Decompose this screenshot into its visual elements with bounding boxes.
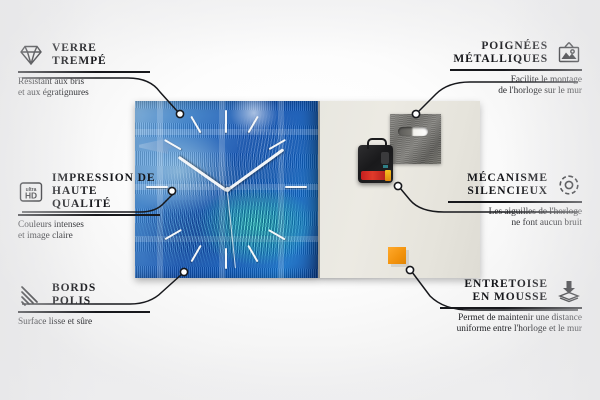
- callout-title-2: SILENCIEUX: [467, 185, 548, 198]
- callout-desc: Permet de maintenir une distance: [440, 313, 582, 325]
- clock-face: [135, 101, 318, 278]
- callout-rule: [440, 307, 582, 309]
- callout-title-2: POLIS: [52, 295, 96, 308]
- callout-desc: Les aiguilles de l'horloge: [448, 207, 582, 219]
- callout-desc: Facilite le montage: [450, 75, 582, 87]
- mechanism-dial: [381, 152, 389, 164]
- callout-title: ENTRETOISE: [464, 278, 548, 291]
- hour-hand: [178, 155, 228, 191]
- callout-rule: [18, 311, 150, 313]
- callout-desc: Surface lisse et sûre: [18, 317, 150, 329]
- polished-edges-icon: [18, 283, 44, 307]
- callout-desc-2: et image claire: [18, 231, 160, 243]
- callout-mecanisme-silencieux: MÉCANISME SILENCIEUX Les aiguilles de l'…: [448, 172, 582, 230]
- callout-desc: Résistant aux bris: [18, 77, 150, 89]
- battery-plus-terminal: [385, 170, 391, 181]
- callout-title: MÉCANISME: [467, 172, 548, 185]
- second-hand: [226, 189, 236, 267]
- callout-title: BORDS: [52, 282, 96, 295]
- minute-hand: [226, 148, 284, 192]
- diamond-icon: [18, 43, 44, 67]
- callout-desc-2: de l'horloge sur le mur: [450, 86, 582, 98]
- battery: [361, 171, 390, 180]
- panel-seam: [318, 101, 320, 278]
- gear-icon: [556, 173, 582, 197]
- clock-front-panel: [135, 101, 318, 278]
- product-image: [135, 101, 480, 278]
- callout-title: VERRE: [52, 42, 107, 55]
- callout-desc: Couleurs intenses: [18, 220, 160, 232]
- callout-rule: [18, 71, 150, 73]
- callout-desc-2: et aux égratignures: [18, 88, 150, 100]
- hanging-frame-icon: [556, 41, 582, 65]
- hanger-keyhole-slot: [398, 127, 428, 136]
- callout-poignees-metalliques: POIGNÉES MÉTALLIQUES Facilite le montage…: [450, 40, 582, 98]
- callout-title-2: TREMPÉ: [52, 55, 107, 68]
- quartz-mechanism: [358, 145, 393, 183]
- clock-hub: [225, 187, 230, 192]
- callout-entretoise-en-mousse: ENTRETOISE EN MOUSSE Permet de maintenir…: [440, 278, 582, 336]
- callout-impression-haute-qualite: ultra HD IMPRESSION DE HAUTE QUALITÉ Cou…: [18, 172, 160, 243]
- callout-desc-2: uniforme entre l'horloge et le mur: [440, 324, 582, 336]
- callout-title: POIGNÉES: [453, 40, 548, 53]
- callout-verre-trempe: VERRE TREMPÉ Résistant aux bris et aux é…: [18, 42, 150, 100]
- callout-bords-polis: BORDS POLIS Surface lisse et sûre: [18, 282, 150, 328]
- callout-rule: [450, 69, 582, 71]
- callout-rule: [448, 201, 582, 203]
- mechanism-marking: [383, 165, 388, 168]
- callout-title: IMPRESSION DE: [52, 172, 160, 185]
- infographic-canvas: VERRE TREMPÉ Résistant aux bris et aux é…: [0, 0, 600, 400]
- metal-hanger-bracket: [390, 114, 441, 164]
- foam-spacer: [388, 247, 406, 264]
- callout-rule: [18, 214, 160, 216]
- callout-desc-2: ne font aucun bruit: [448, 218, 582, 230]
- mechanism-hook: [367, 138, 387, 149]
- callout-title-2: EN MOUSSE: [464, 291, 548, 304]
- arrow-down-onto-layers-icon: [556, 279, 582, 303]
- callout-title-2: MÉTALLIQUES: [453, 53, 548, 66]
- svg-text:HD: HD: [25, 190, 37, 200]
- callout-title-2: HAUTE QUALITÉ: [52, 185, 160, 211]
- ultra-hd-badge-icon: ultra HD: [18, 180, 44, 204]
